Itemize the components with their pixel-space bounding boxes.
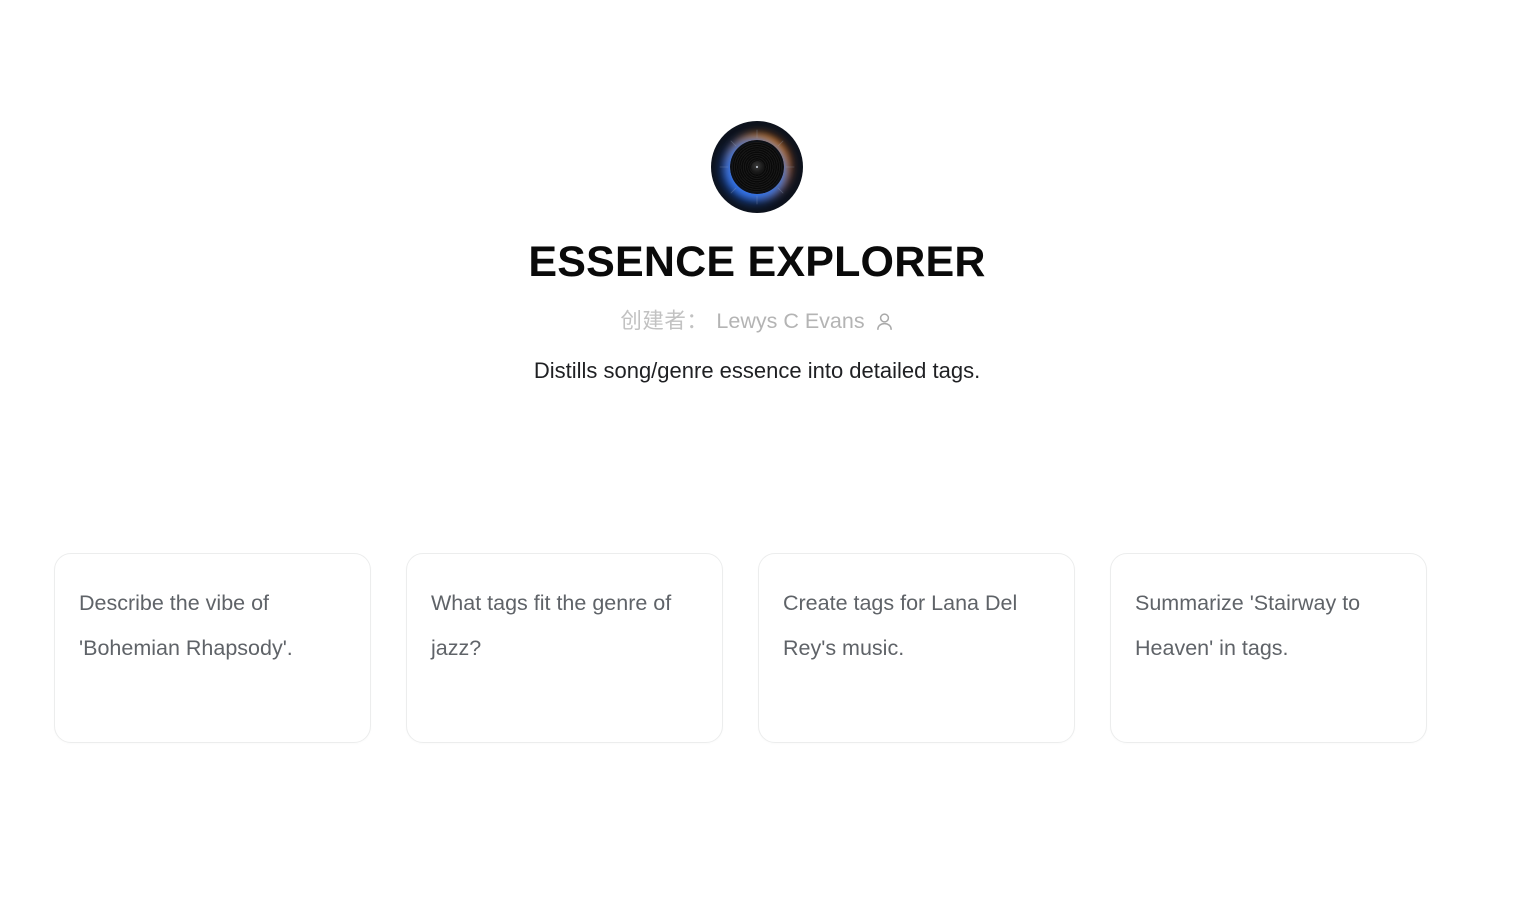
creator-name: Lewys C Evans xyxy=(716,309,864,335)
person-icon xyxy=(875,311,894,333)
suggestion-card[interactable]: Describe the vibe of 'Bohemian Rhapsody'… xyxy=(54,553,371,743)
app-intro-page: ESSENCE EXPLORER 创建者： Lewys C Evans Dist… xyxy=(0,0,1514,910)
suggestion-card[interactable]: Summarize 'Stairway to Heaven' in tags. xyxy=(1110,553,1427,743)
page-title: ESSENCE EXPLORER xyxy=(528,240,985,285)
suggestion-card-grid: Describe the vibe of 'Bohemian Rhapsody'… xyxy=(54,553,1427,743)
hero-section: ESSENCE EXPLORER 创建者： Lewys C Evans Dist… xyxy=(0,0,1514,386)
suggestion-card-text: Describe the vibe of 'Bohemian Rhapsody'… xyxy=(79,581,346,671)
suggestion-card[interactable]: What tags fit the genre of jazz? xyxy=(406,553,723,743)
suggestion-card-text: Create tags for Lana Del Rey's music. xyxy=(783,581,1050,671)
vinyl-record-avatar xyxy=(711,121,803,213)
page-description: Distills song/genre essence into detaile… xyxy=(534,357,980,386)
creator-line: 创建者： Lewys C Evans xyxy=(620,309,893,335)
suggestion-card-text: Summarize 'Stairway to Heaven' in tags. xyxy=(1135,581,1402,671)
vinyl-disc xyxy=(732,142,782,192)
suggestion-card[interactable]: Create tags for Lana Del Rey's music. xyxy=(758,553,1075,743)
suggestion-card-text: What tags fit the genre of jazz? xyxy=(431,581,698,671)
creator-label: 创建者： xyxy=(620,309,708,335)
